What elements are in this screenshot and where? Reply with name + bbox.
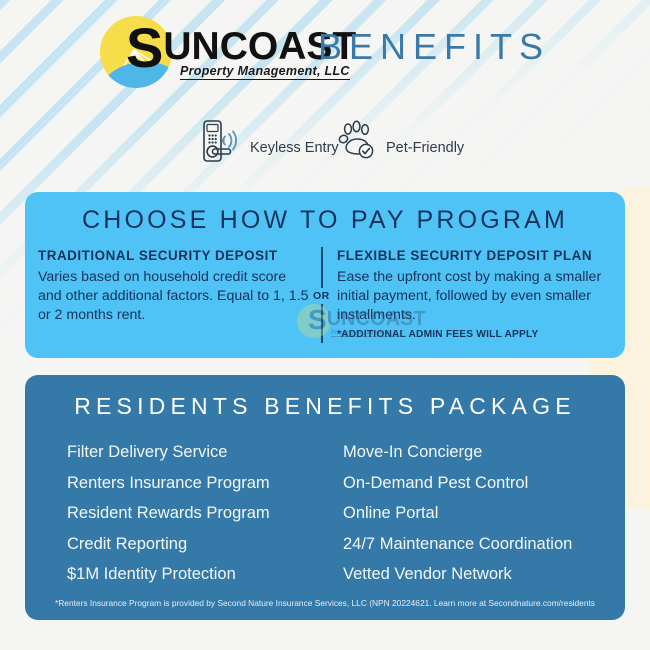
list-item: Vetted Vendor Network [343,559,572,590]
feature-label-pet-friendly: Pet-Friendly [386,126,464,156]
traditional-deposit-subheading: TRADITIONAL SECURITY DEPOSIT [38,248,313,263]
page-title: BENEFITS [318,26,550,68]
traditional-deposit-body: Varies based on household credit score a… [38,268,313,325]
benefits-flyer: SUNCOAST Property Management, LLC BENEFI… [0,0,650,650]
list-item: Online Portal [343,498,572,529]
flexible-deposit-column: FLEXIBLE SECURITY DEPOSIT PLAN Ease the … [337,248,622,340]
pet-friendly-icon [336,118,380,164]
rbp-footnote: *Renters Insurance Program is provided b… [25,598,625,608]
list-item: Move-In Concierge [343,437,572,468]
list-item: Filter Delivery Service [67,437,270,468]
traditional-deposit-column: TRADITIONAL SECURITY DEPOSIT Varies base… [38,248,313,325]
residents-benefits-package-panel: RESIDENTS BENEFITS PACKAGE Filter Delive… [25,375,625,620]
list-item: On-Demand Pest Control [343,468,572,499]
flexible-deposit-subheading: FLEXIBLE SECURITY DEPOSIT PLAN [337,248,622,263]
feature-label-keyless-entry: Keyless Entry [250,126,339,156]
pay-panel-heading: CHOOSE HOW TO PAY PROGRAM [25,206,625,235]
header: SUNCOAST Property Management, LLC BENEFI… [0,0,650,108]
list-item: $1M Identity Protection [67,559,270,590]
flexible-deposit-body: Ease the upfront cost by making a smalle… [337,268,622,325]
suncoast-logo: SUNCOAST Property Management, LLC [100,12,320,90]
rbp-right-column: Move-In Concierge On-Demand Pest Control… [343,437,572,590]
feature-keyless-entry: Keyless Entry [200,118,339,164]
choose-how-to-pay-panel: CHOOSE HOW TO PAY PROGRAM TRADITIONAL SE… [25,192,625,358]
feature-pet-friendly: Pet-Friendly [336,118,464,164]
list-item: Renters Insurance Program [67,468,270,499]
keyless-entry-icon [200,118,244,164]
rbp-left-column: Filter Delivery Service Renters Insuranc… [67,437,270,590]
or-divider-label: OR [310,288,333,304]
list-item: 24/7 Maintenance Coordination [343,529,572,560]
admin-fees-note: *ADDITIONAL ADMIN FEES WILL APPLY [337,329,622,340]
feature-row: Keyless Entry Pet-Friendly [0,118,650,170]
list-item: Credit Reporting [67,529,270,560]
logo-initial: S [126,16,163,79]
rbp-panel-heading: RESIDENTS BENEFITS PACKAGE [25,393,625,420]
list-item: Resident Rewards Program [67,498,270,529]
